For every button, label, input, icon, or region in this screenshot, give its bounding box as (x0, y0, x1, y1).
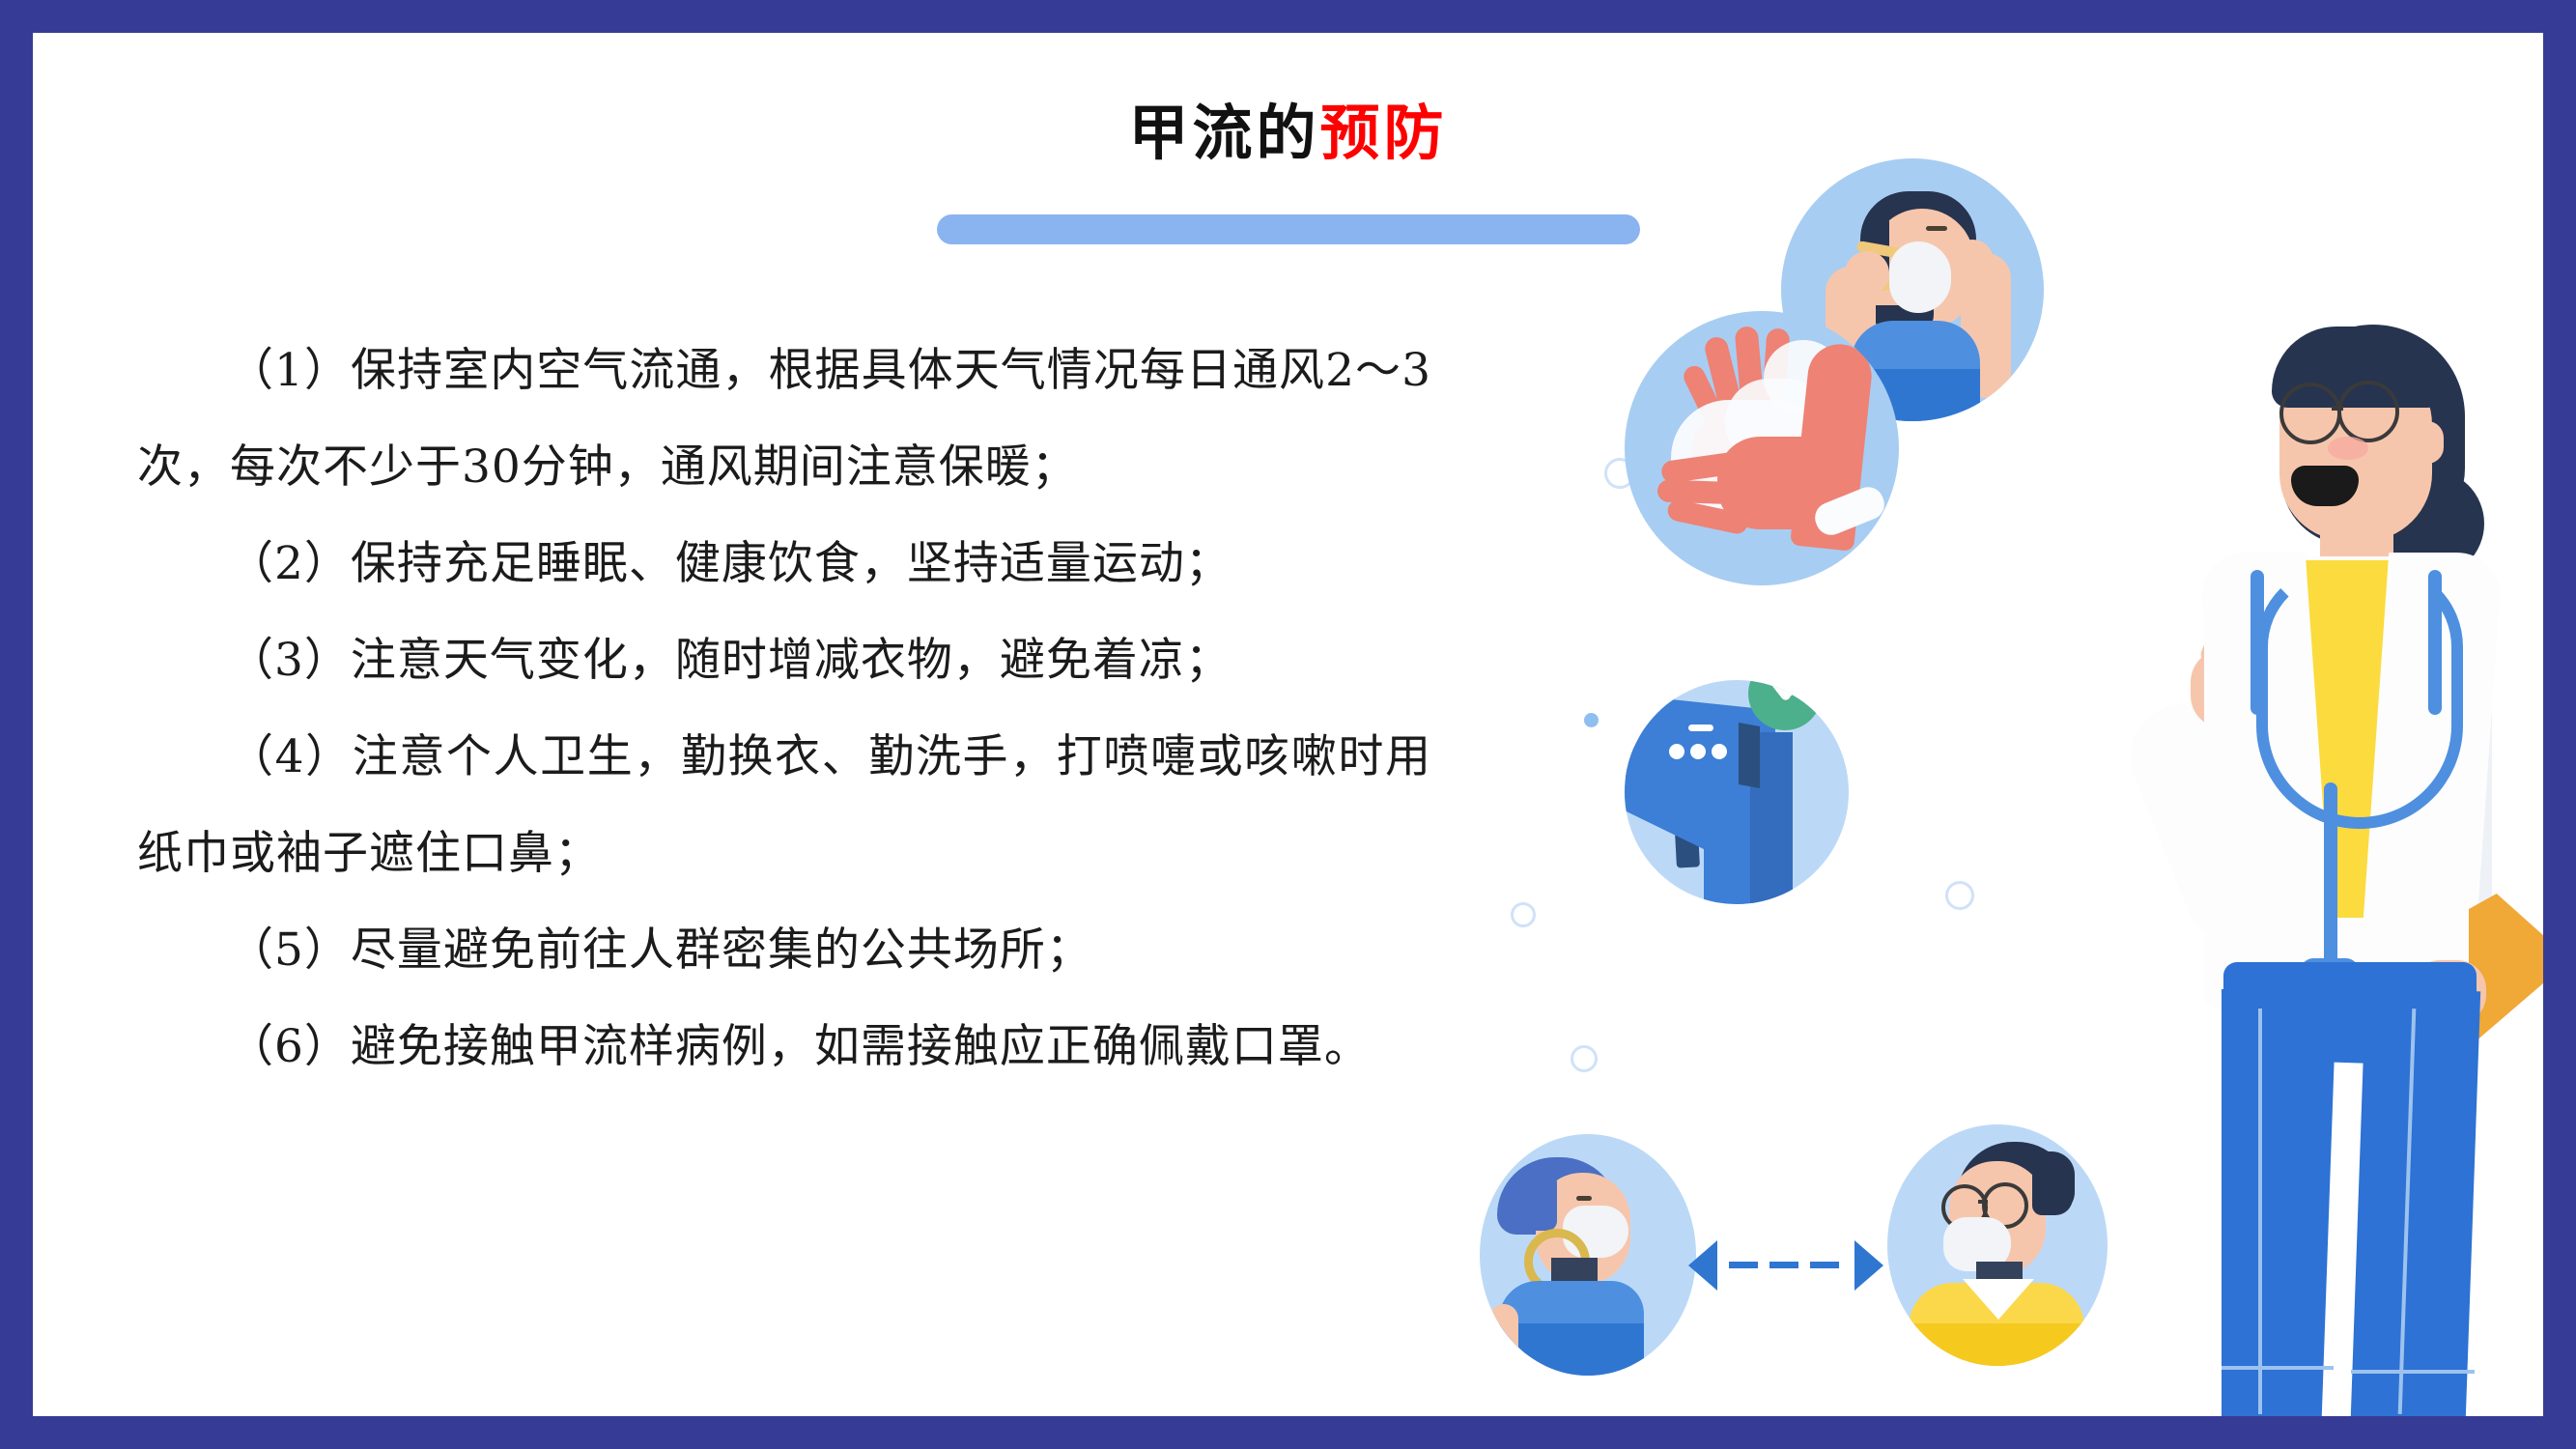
scene-keep-distance-left (1480, 1134, 1696, 1376)
title-text: 甲流的预防 (33, 100, 2543, 166)
decorative-dot-icon (1584, 713, 1599, 727)
decorative-ring-icon (1945, 881, 1974, 910)
scene-temperature-check (1625, 680, 1849, 904)
scene-wash-hands (1625, 311, 1899, 585)
decorative-ring-icon (1571, 1045, 1598, 1072)
prevention-item-2: （2）保持充足睡眠、健康饮食，坚持适量运动； (137, 516, 1431, 612)
title-main-text: 甲流的 (1128, 98, 1319, 168)
slide-canvas: 甲流的预防 （1）保持室内空气流通，根据具体天气情况每日通风2～3次，每次不少于… (33, 33, 2543, 1416)
prevention-item-3: （3）注意天气变化，随时增减衣物，避免着凉； (137, 612, 1431, 709)
arrow-left-icon (1688, 1240, 1717, 1291)
glasses-icon (2279, 383, 2341, 444)
prevention-item-1: （1）保持室内空气流通，根据具体天气情况每日通风2～3次，每次不少于30分钟，通… (137, 323, 1431, 516)
page-title: 甲流的预防 (33, 100, 2543, 166)
prevention-item-5: （5）尽量避免前往人群密集的公共场所； (137, 902, 1431, 999)
decorative-ring-icon (1511, 902, 1536, 927)
illustration-group (1366, 158, 2543, 1416)
slide-frame: 甲流的预防 （1）保持室内空气流通，根据具体天气情况每日通风2～3次，每次不少于… (0, 0, 2576, 1449)
prevention-item-4: （4）注意个人卫生，勤换衣、勤洗手，打喷嚏或咳嗽时用纸巾或袖子遮住口鼻； (137, 709, 1431, 902)
prevention-item-6: （6）避免接触甲流样病例，如需接触应正确佩戴口罩。 (137, 999, 1431, 1095)
glasses-icon (2337, 381, 2399, 442)
doctor-figure (2042, 245, 2543, 1416)
distance-arrow (1688, 1240, 1891, 1291)
prevention-list: （1）保持室内空气流通，根据具体天气情况每日通风2～3次，每次不少于30分钟，通… (137, 323, 1431, 1095)
arrow-right-icon (1854, 1240, 1883, 1291)
